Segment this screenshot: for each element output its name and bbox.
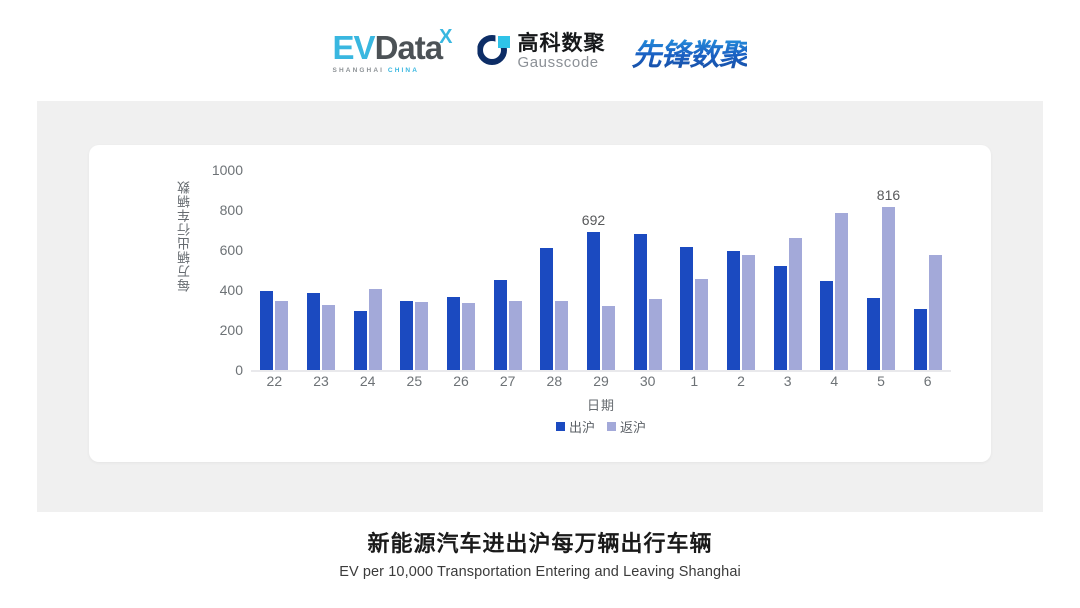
bar-group — [671, 170, 718, 370]
gausscode-logo: 高科数聚 Gausscode — [477, 33, 605, 71]
bar-返沪-25[interactable] — [415, 302, 428, 370]
bar-chart: 每万辆出行车辆数 02004006008001000 692816 222324… — [89, 145, 991, 462]
bar-group — [904, 170, 951, 370]
bar-出沪-3[interactable] — [774, 266, 787, 370]
x-axis-tick-label: 3 — [784, 373, 792, 389]
gausscode-ring-icon — [477, 35, 511, 69]
bar-出沪-23[interactable] — [307, 293, 320, 370]
evdata-tagline-city: SHANGHAI — [333, 67, 384, 74]
bar-出沪-24[interactable] — [354, 311, 367, 370]
bar-出沪-26[interactable] — [447, 297, 460, 370]
bar-group — [251, 170, 298, 370]
bar-group — [438, 170, 485, 370]
legend-label-chuhu: 出沪 — [569, 417, 595, 436]
bar-返沪-28[interactable] — [555, 301, 568, 370]
bar-返沪-2[interactable] — [742, 255, 755, 370]
xianfeng-logo: 先锋数聚 — [631, 30, 747, 74]
bar-返沪-26[interactable] — [462, 303, 475, 370]
gausscode-name-en: Gausscode — [517, 55, 605, 71]
bar-group — [391, 170, 438, 370]
evdata-tagline: SHANGHAI CHINA — [333, 67, 452, 74]
bar-出沪-28[interactable] — [540, 248, 553, 370]
x-axis-tick-label: 6 — [924, 373, 932, 389]
evdata-suffix: Data — [375, 31, 443, 64]
y-axis-tick-label: 600 — [220, 242, 243, 258]
caption-title-cn: 新能源汽车进出沪每万辆出行车辆 — [0, 530, 1080, 558]
bar-返沪-29[interactable] — [602, 306, 615, 370]
x-axis-tick-label: 25 — [407, 373, 423, 389]
bar-group — [811, 170, 858, 370]
x-axis-tick-label: 28 — [547, 373, 563, 389]
bar-group — [764, 170, 811, 370]
bar-返沪-6[interactable] — [929, 255, 942, 370]
bar-返沪-5[interactable] — [882, 207, 895, 370]
x-axis-title: 日期 — [251, 395, 951, 414]
gausscode-name-cn: 高科数聚 — [517, 33, 605, 55]
x-axis-tick-label: 4 — [830, 373, 838, 389]
evdata-x-icon: X — [439, 27, 451, 47]
caption-block: 新能源汽车进出沪每万辆出行车辆 EV per 10,000 Transporta… — [0, 530, 1080, 580]
evdata-wordmark: EVDataX — [333, 31, 452, 64]
y-axis-tick-label: 400 — [220, 282, 243, 298]
bar-group — [624, 170, 671, 370]
bar-value-label: 816 — [877, 187, 900, 203]
bar-group — [344, 170, 391, 370]
legend-label-fanhu: 返沪 — [620, 417, 646, 436]
x-axis-tick-label: 29 — [593, 373, 609, 389]
bar-group — [298, 170, 345, 370]
bar-出沪-29[interactable] — [587, 232, 600, 370]
bar-group — [531, 170, 578, 370]
bar-返沪-4[interactable] — [835, 213, 848, 370]
x-axis-tick-label: 23 — [313, 373, 329, 389]
bar-group — [718, 170, 765, 370]
y-axis-tick-label: 200 — [220, 322, 243, 338]
chart-card: 每万辆出行车辆数 02004006008001000 692816 222324… — [89, 145, 991, 462]
logo-bar: EVDataX SHANGHAI CHINA 高科数聚 Gausscode 先锋… — [0, 22, 1080, 82]
bar-出沪-30[interactable] — [634, 234, 647, 370]
bar-出沪-25[interactable] — [400, 301, 413, 370]
y-axis-tick-label: 800 — [220, 202, 243, 218]
x-axis-tick-label: 24 — [360, 373, 376, 389]
bar-返沪-27[interactable] — [509, 301, 522, 370]
bar-出沪-1[interactable] — [680, 247, 693, 370]
bar-group: 816 — [858, 170, 905, 370]
bar-出沪-27[interactable] — [494, 280, 507, 370]
evdata-prefix: EV — [333, 31, 375, 64]
x-axis-tick-label: 1 — [690, 373, 698, 389]
bar-返沪-30[interactable] — [649, 299, 662, 370]
x-axis-tick-label: 26 — [453, 373, 469, 389]
y-axis-tick-label: 1000 — [212, 162, 243, 178]
legend-item-fanhu[interactable]: 返沪 — [607, 417, 646, 436]
y-axis-tick-label: 0 — [235, 362, 243, 378]
y-axis: 02004006008001000 — [189, 170, 249, 370]
legend-swatch-icon-fanhu — [607, 422, 616, 431]
x-axis-tick-label: 2 — [737, 373, 745, 389]
x-axis-tick-labels: 222324252627282930123456 — [251, 373, 951, 397]
bar-返沪-1[interactable] — [695, 279, 708, 370]
bar-出沪-22[interactable] — [260, 291, 273, 370]
x-axis-line — [251, 370, 951, 372]
bar-返沪-23[interactable] — [322, 305, 335, 370]
bar-value-label: 692 — [582, 212, 605, 228]
bar-出沪-5[interactable] — [867, 298, 880, 370]
legend-swatch-icon-chuhu — [556, 422, 565, 431]
bar-出沪-2[interactable] — [727, 251, 740, 370]
bar-group: 692 — [578, 170, 625, 370]
bar-返沪-3[interactable] — [789, 238, 802, 370]
caption-title-en: EV per 10,000 Transportation Entering an… — [0, 564, 1080, 580]
x-axis-tick-label: 22 — [267, 373, 283, 389]
legend-item-chuhu[interactable]: 出沪 — [556, 417, 595, 436]
x-axis-tick-label: 30 — [640, 373, 656, 389]
chart-legend: 出沪 返沪 — [251, 417, 951, 436]
bar-返沪-22[interactable] — [275, 301, 288, 370]
bar-出沪-6[interactable] — [914, 309, 927, 370]
x-axis-tick-label: 5 — [877, 373, 885, 389]
bar-返沪-24[interactable] — [369, 289, 382, 370]
evdata-logo: EVDataX SHANGHAI CHINA — [333, 31, 452, 74]
evdata-tagline-country: CHINA — [388, 67, 419, 74]
bar-出沪-4[interactable] — [820, 281, 833, 370]
plot-area: 692816 — [251, 170, 951, 370]
x-axis-tick-label: 27 — [500, 373, 516, 389]
bar-group — [484, 170, 531, 370]
